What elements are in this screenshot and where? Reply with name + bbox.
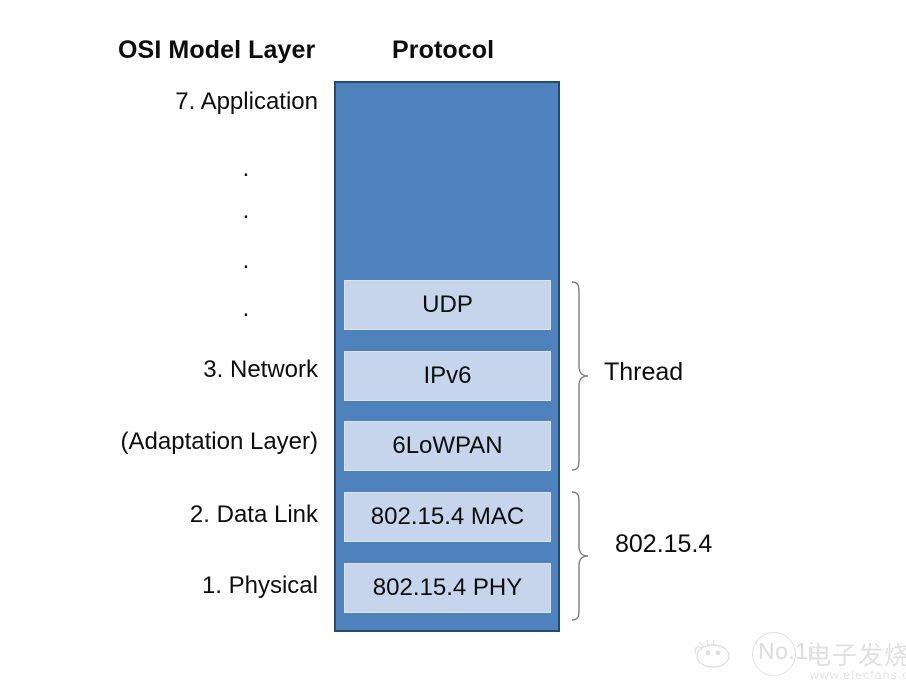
brace-thread [570,280,596,472]
osi-column-header: OSI Model Layer [118,36,315,65]
watermark-brand-cn: 电子发烧友 [806,636,906,672]
osi-layer-label-adaptation: (Adaptation Layer) [121,430,318,454]
watermark: No.1i 电子发烧友 www.elecfans.com [694,628,902,690]
ellipsis-dot: . [241,199,251,223]
osi-layer-label-data-link: 2. Data Link [190,503,318,527]
protocol-box-ipv6: IPv6 [344,351,551,401]
watermark-brand-latin: No.1i [758,638,814,665]
osi-layer-label-physical: 1. Physical [202,574,318,598]
curly-brace-icon [570,490,596,622]
diagram-canvas: OSI Model Layer Protocol 7. Application … [0,0,906,695]
mascot-icon [694,636,740,670]
watermark-circle-icon [752,632,796,676]
brace-802-15-4 [570,490,596,622]
watermark-url: www.elecfans.com [810,668,906,682]
ellipsis-dot: . [241,297,251,321]
curly-brace-icon [570,280,596,472]
group-label-thread: Thread [604,360,683,385]
osi-layer-label-network: 3. Network [203,358,318,382]
ellipsis-dot: . [241,157,251,181]
protocol-box-802-15-4-phy: 802.15.4 PHY [344,563,551,613]
osi-layer-label-application: 7. Application [175,90,318,114]
protocol-box-udp: UDP [344,280,551,330]
ellipsis-dot: . [241,249,251,273]
protocol-box-802-15-4-mac: 802.15.4 MAC [344,492,551,542]
protocol-box-6lowpan: 6LoWPAN [344,421,551,471]
protocol-column-header: Protocol [392,36,494,65]
group-label-802-15-4: 802.15.4 [615,532,712,557]
